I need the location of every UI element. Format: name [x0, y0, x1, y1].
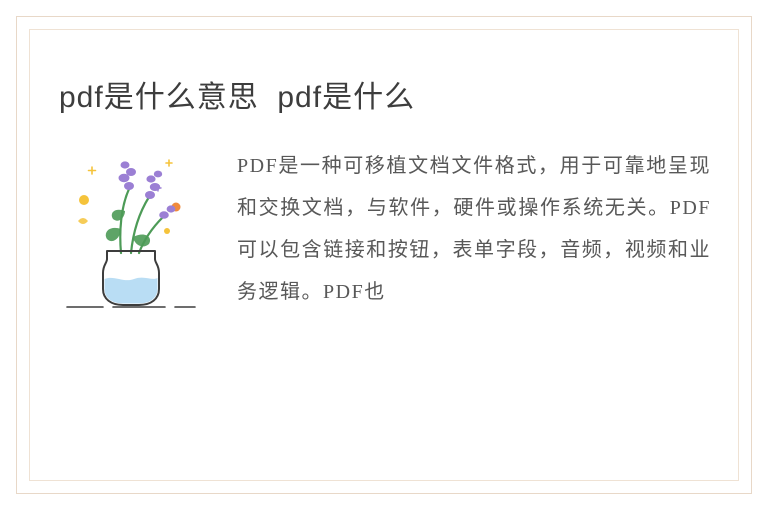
article-content: PDF是一种可移植文档文件格式，用于可靠地呈现和交换文档，与软件，硬件或操作系统…: [59, 145, 711, 313]
article-body: PDF是一种可移植文档文件格式，用于可靠地呈现和交换文档，与软件，硬件或操作系统…: [237, 145, 711, 313]
page-title: pdf是什么意思 pdf是什么: [59, 72, 415, 116]
article-card: pdf是什么意思 pdf是什么: [16, 16, 752, 494]
potted-flower-illustration: [59, 145, 209, 310]
